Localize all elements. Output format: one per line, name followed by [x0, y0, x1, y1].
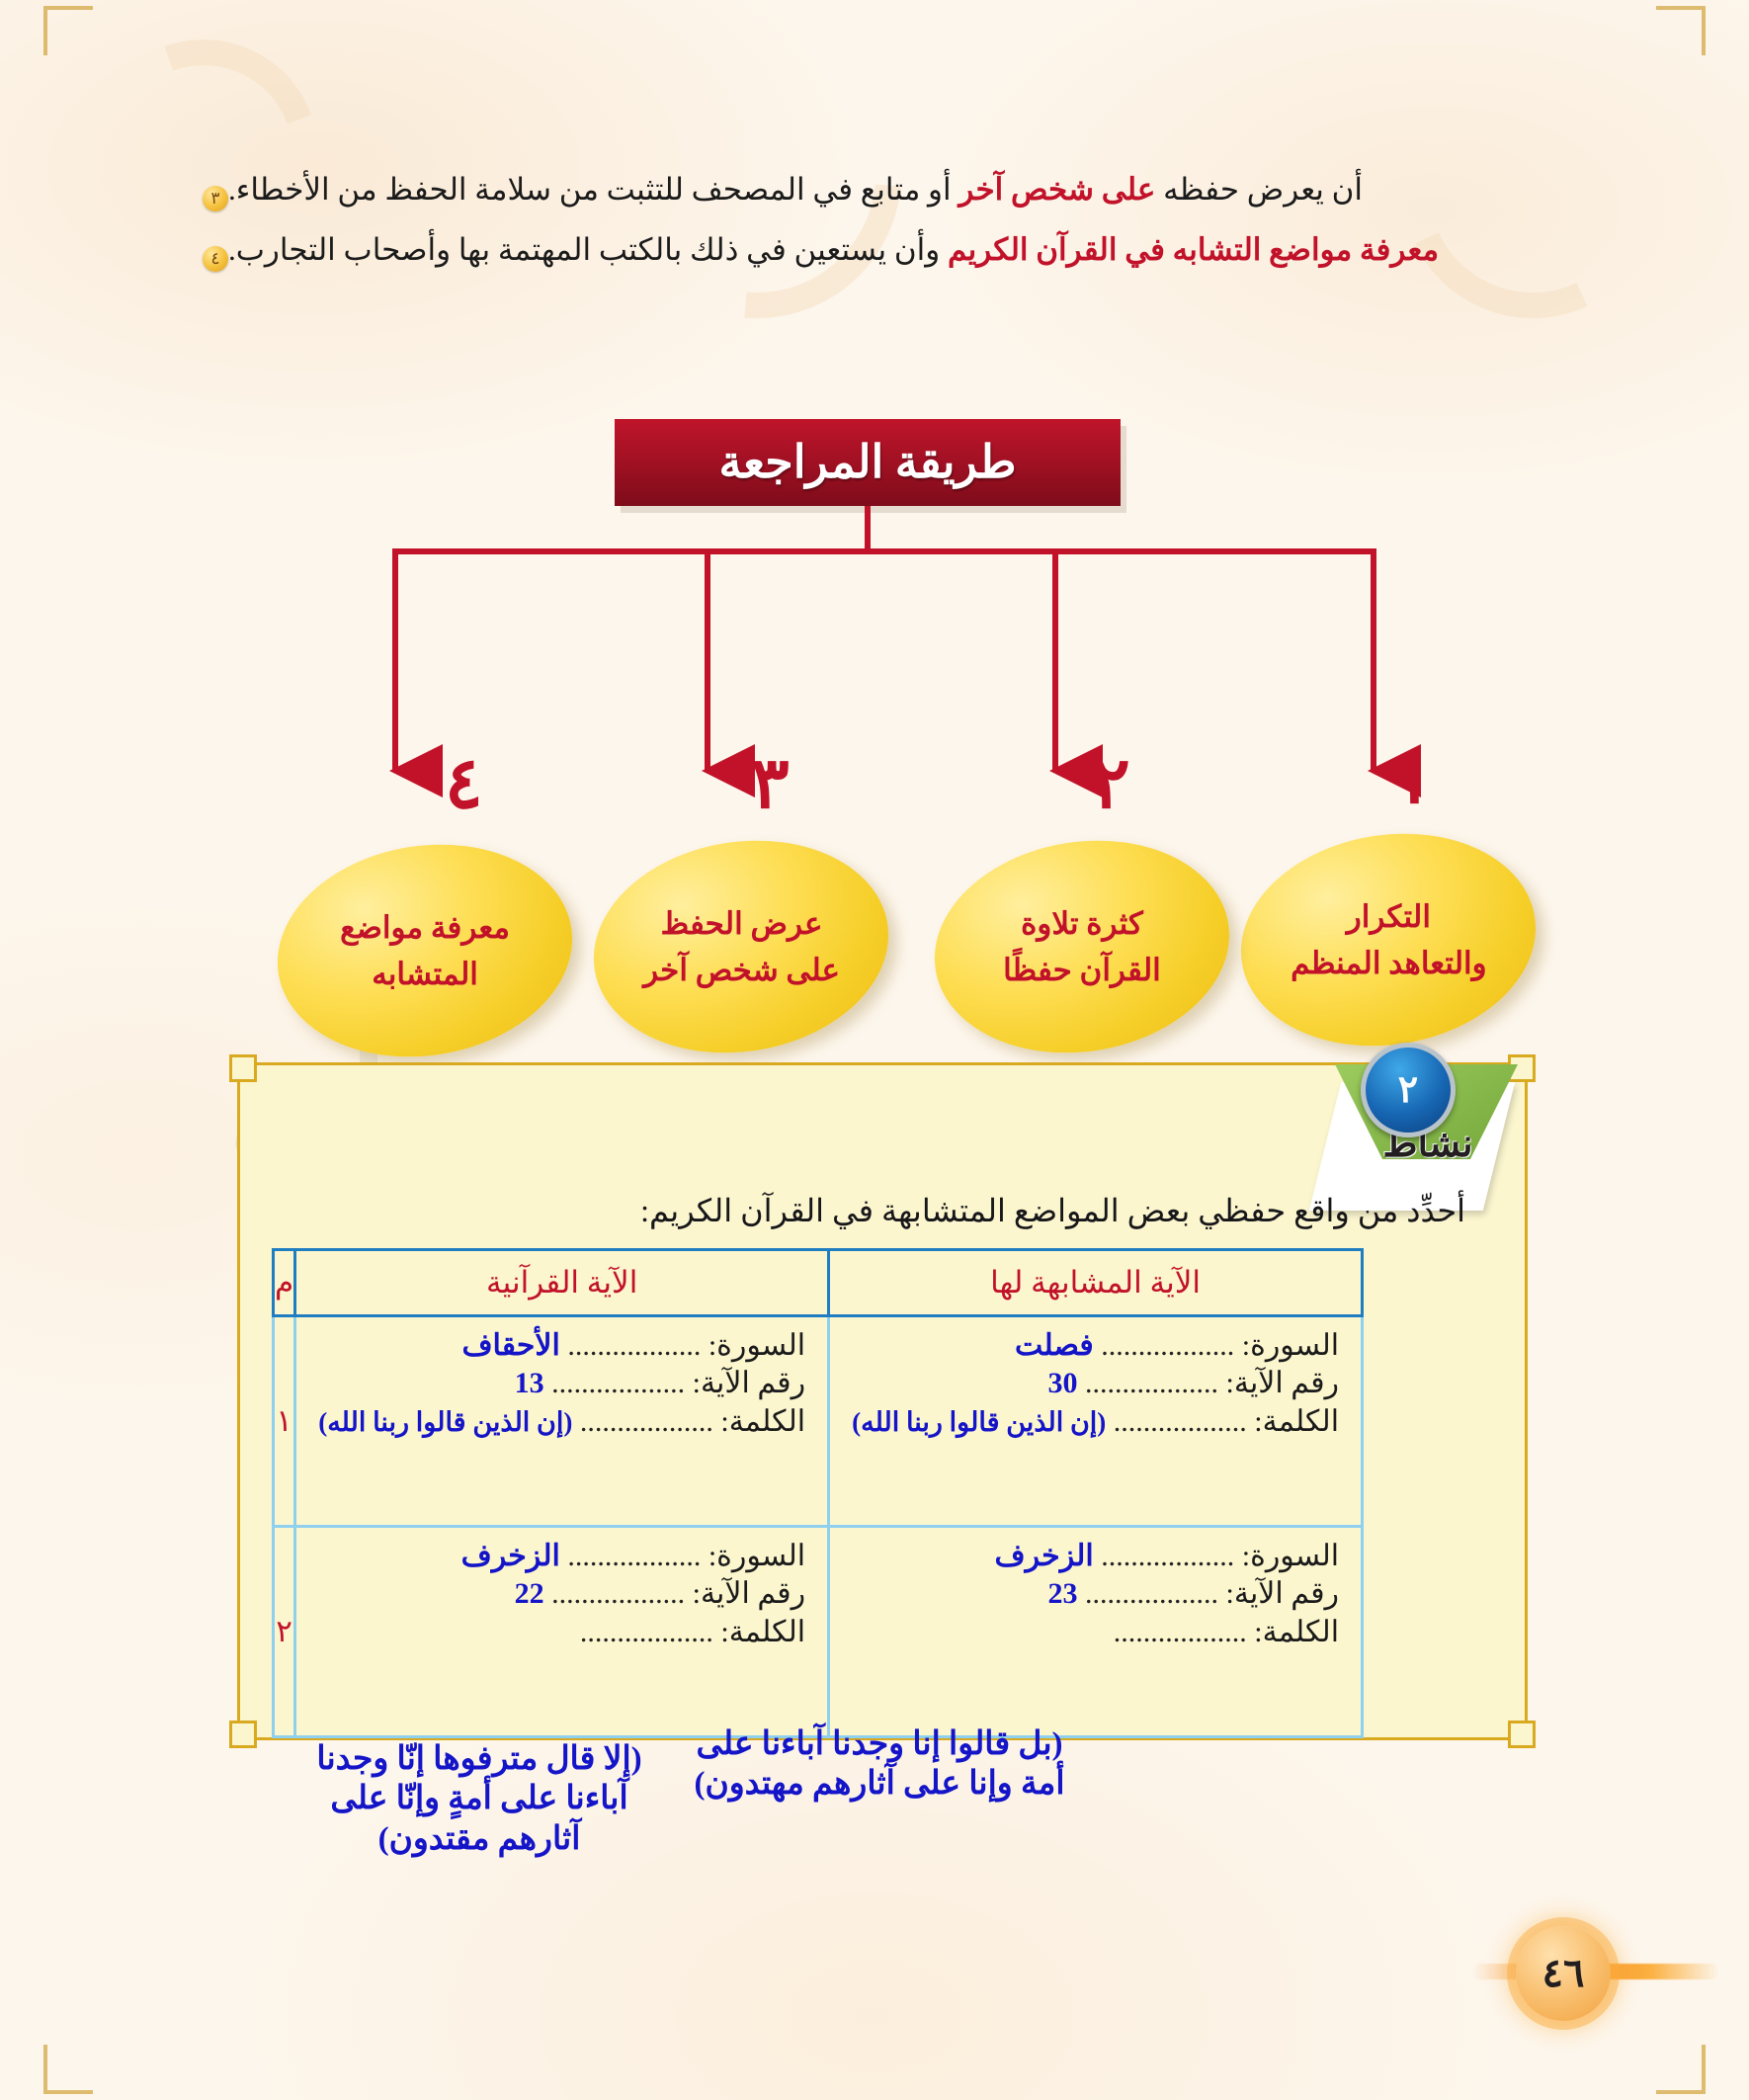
point-prefix: أن يعرض حفظه	[1155, 172, 1363, 207]
table-row: السورة: .................. الزخرف رقم ال…	[274, 1527, 1363, 1737]
column-header-index: م	[274, 1250, 295, 1316]
label-ayah-number: رقم الآية:	[1226, 1367, 1340, 1399]
top-points-list: ٣ أن يعرض حفظه على شخص آخر أو متابع في ا…	[193, 168, 1566, 289]
answer-word: (إن الذين قالوا ربنا الله)	[318, 1407, 572, 1437]
point-suffix: وأن يستعين في ذلك بالكتب المهتمة بها وأص…	[228, 232, 948, 267]
cell-row-index: ٢	[274, 1527, 295, 1737]
node-label-line2: على شخص آخر	[643, 947, 840, 993]
bullet-marker: ٤	[203, 246, 228, 272]
node-label-line1: معرفة مواضع	[340, 904, 510, 951]
answer-ayah-number: 22	[515, 1577, 544, 1610]
dotted-line: ..................	[567, 1329, 701, 1362]
page-corner-top-left	[43, 6, 93, 55]
node-number-4: ٤	[445, 741, 483, 825]
answer-surah: الزخرف	[461, 1540, 560, 1572]
similar-verses-table: الآية المشابهة لها الآية القرآنية م السو…	[272, 1248, 1364, 1738]
node-label-line2: القرآن حفظًا	[1003, 947, 1161, 993]
panel-corner-pin	[1508, 1721, 1536, 1748]
answer-ayah-number: 13	[515, 1367, 544, 1399]
dotted-line: ..................	[1101, 1540, 1234, 1572]
cell-quran-verse: السورة: .................. الأحقاف رقم ا…	[295, 1316, 829, 1527]
node-label: كثرة تلاوة القرآن حفظًا	[983, 900, 1181, 992]
node-label-line2: والتعاهد المنظم	[1291, 940, 1487, 986]
answer-word: (إن الذين قالوا ربنا الله)	[852, 1407, 1106, 1437]
node-label: التكرار والتعاهد المنظم	[1271, 894, 1507, 986]
point-suffix: أو متابع في المصحف للتثبت من سلامة الحفظ…	[228, 172, 958, 207]
node-label: معرفة مواضع المتشابه	[320, 904, 530, 996]
dotted-line: ..................	[551, 1367, 685, 1399]
diagram-node-2: كثرة تلاوة القرآن حفظًا	[919, 820, 1244, 1073]
diagram-title-banner: طريقة المراجعة	[615, 419, 1121, 506]
dotted-line: ..................	[1114, 1616, 1247, 1648]
diagram-node-4: معرفة مواضع المتشابه	[262, 824, 587, 1077]
node-label: عرض الحفظ على شخص آخر	[624, 900, 860, 992]
page-corner-top-right	[1656, 6, 1706, 55]
diagram-node-3: عرض الحفظ على شخص آخر	[578, 820, 903, 1073]
point-text: أن يعرض حفظه على شخص آخر أو متابع في الم…	[228, 168, 1363, 212]
point-highlight: على شخص آخر	[958, 172, 1155, 207]
label-surah: السورة:	[708, 1329, 805, 1362]
overflow-quote-similar: (إلا قال مترفوها إنّا وجدنا آباءنا على أ…	[296, 1739, 662, 1859]
node-number-3: ٣	[751, 741, 790, 825]
cell-quran-verse: السورة: .................. الزخرف رقم ال…	[295, 1527, 829, 1737]
node-label-line2: المتشابه	[340, 951, 510, 997]
label-surah: السورة:	[708, 1540, 805, 1572]
activity-number-circle: ٢	[1361, 1043, 1456, 1137]
label-ayah-number: رقم الآية:	[693, 1577, 806, 1610]
page-corner-bottom-right	[1656, 2045, 1706, 2094]
page-corner-bottom-left	[43, 2045, 93, 2094]
bullet-marker: ٣	[203, 186, 228, 211]
point-highlight: معرفة مواضع التشابه في القرآن الكريم	[948, 232, 1439, 267]
dotted-line: ..................	[1085, 1367, 1218, 1399]
dotted-line: ..................	[1114, 1405, 1247, 1438]
node-label-line1: كثرة تلاوة	[1003, 900, 1161, 947]
label-ayah-number: رقم الآية:	[1226, 1577, 1340, 1610]
answer-ayah-number: 30	[1048, 1367, 1078, 1399]
label-word: الكلمة:	[720, 1405, 805, 1438]
point-text: معرفة مواضع التشابه في القرآن الكريم وأن…	[228, 228, 1439, 273]
answer-surah: الزخرف	[995, 1540, 1094, 1572]
node-number-1: ١	[1393, 736, 1432, 820]
list-item: ٤ معرفة مواضع التشابه في القرآن الكريم و…	[193, 228, 1566, 273]
dotted-line: ..................	[580, 1616, 713, 1648]
page-number-badge: ٤٦	[1472, 1912, 1719, 2051]
table-row: السورة: .................. فصلت رقم الآي…	[274, 1316, 1363, 1527]
table-header-row: الآية المشابهة لها الآية القرآنية م	[274, 1250, 1363, 1316]
label-word: الكلمة:	[1254, 1616, 1339, 1648]
dotted-line: ..................	[1085, 1577, 1218, 1610]
answer-surah: الأحقاف	[461, 1329, 559, 1362]
overflow-quote-verse: (بل قالوا إنا وجدنا آباءنا على أمة وإنا …	[692, 1724, 1067, 1805]
diagram-title: طريقة المراجعة	[615, 419, 1121, 506]
node-number-2: ٢	[1092, 741, 1130, 825]
panel-corner-pin	[229, 1054, 257, 1082]
column-header-similar: الآية المشابهة لها	[829, 1250, 1363, 1316]
cell-similar-verse: السورة: .................. الزخرف رقم ال…	[829, 1527, 1363, 1737]
label-word: الكلمة:	[720, 1616, 805, 1648]
cell-row-index: ١	[274, 1316, 295, 1527]
activity-panel: نشاط ٢ أحدِّد من واقع حفظي بعض المواضع ا…	[237, 1062, 1528, 1740]
dotted-line: ..................	[567, 1540, 701, 1572]
list-item: ٣ أن يعرض حفظه على شخص آخر أو متابع في ا…	[193, 168, 1566, 212]
label-word: الكلمة:	[1254, 1405, 1339, 1438]
node-label-line1: التكرار	[1291, 894, 1487, 941]
panel-corner-pin	[229, 1721, 257, 1748]
label-surah: السورة:	[1242, 1329, 1339, 1362]
node-label-line1: عرض الحفظ	[643, 900, 840, 947]
cell-similar-verse: السورة: .................. فصلت رقم الآي…	[829, 1316, 1363, 1527]
dotted-line: ..................	[580, 1405, 713, 1438]
page-number: ٤٦	[1516, 1926, 1611, 2021]
dotted-line: ..................	[551, 1577, 685, 1610]
answer-surah: فصلت	[1015, 1329, 1094, 1362]
answer-ayah-number: 23	[1048, 1577, 1078, 1610]
column-header-verse: الآية القرآنية	[295, 1250, 829, 1316]
dotted-line: ..................	[1101, 1329, 1234, 1362]
diagram-node-1: التكرار والتعاهد المنظم	[1225, 813, 1550, 1066]
label-surah: السورة:	[1242, 1540, 1339, 1572]
label-ayah-number: رقم الآية:	[693, 1367, 806, 1399]
activity-instruction: أحدِّد من واقع حفظي بعض المواضع المتشابه…	[640, 1192, 1465, 1229]
